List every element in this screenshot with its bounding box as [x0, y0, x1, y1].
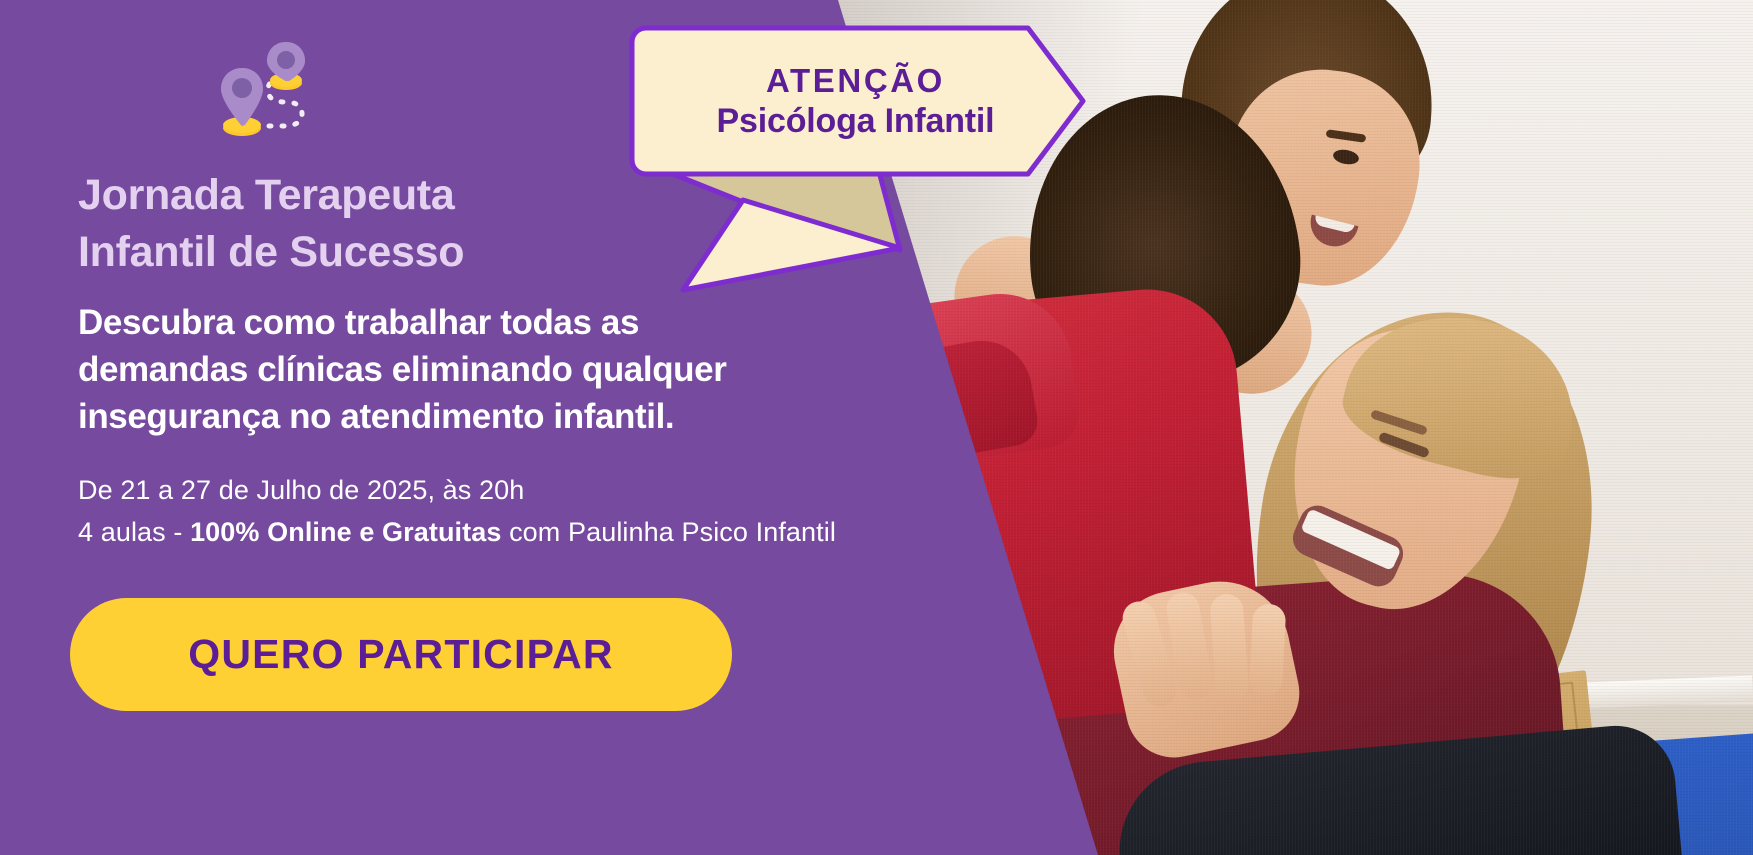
- subtitle-line-1: Descubra como trabalhar todas as: [78, 300, 838, 347]
- subtitle-line-3: insegurança no atendimento infantil.: [78, 394, 838, 441]
- event-details: De 21 a 27 de Julho de 2025, às 20h 4 au…: [78, 470, 978, 554]
- journey-map-pins-icon: [205, 40, 325, 145]
- attention-callout: ATENÇÃO Psicóloga Infantil: [628, 18, 1098, 298]
- classes-highlight: 100% Online e Gratuitas: [190, 517, 501, 547]
- photo-finger: [1249, 603, 1287, 697]
- quero-participar-button[interactable]: QUERO PARTICIPAR: [70, 598, 732, 711]
- subtitle: Descubra como trabalhar todas as demanda…: [78, 300, 838, 441]
- classes-suffix: com Paulinha Psico Infantil: [501, 517, 835, 547]
- event-date-line: De 21 a 27 de Julho de 2025, às 20h: [78, 470, 978, 512]
- callout-bubble-shape: [628, 18, 1098, 298]
- event-classes-line: 4 aulas - 100% Online e Gratuitas com Pa…: [78, 512, 978, 554]
- promotional-banner: Jornada Terapeuta Infantil de Sucesso De…: [0, 0, 1753, 855]
- classes-prefix: 4 aulas -: [78, 517, 190, 547]
- subtitle-line-2: demandas clínicas eliminando qualquer: [78, 347, 838, 394]
